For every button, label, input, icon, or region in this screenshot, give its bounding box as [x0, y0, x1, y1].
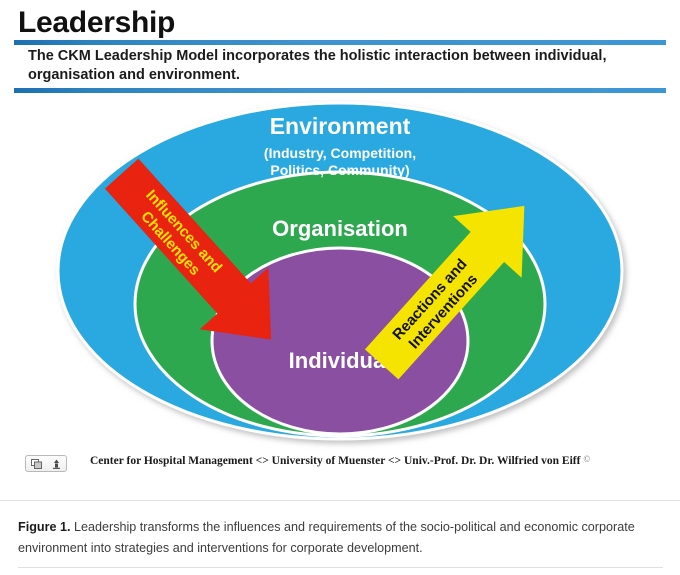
figure-caption: Figure 1. Leadership transforms the infl…: [18, 517, 663, 559]
organisation-label: Organisation: [272, 216, 408, 241]
slide-mini-toolbar[interactable]: [25, 455, 67, 472]
sort-ascending-icon[interactable]: [52, 459, 61, 469]
footer-credit-text: Center for Hospital Management <> Univer…: [90, 455, 580, 467]
environment-sublabel-line1: (Industry, Competition,: [264, 145, 416, 161]
environment-label: Environment: [270, 113, 411, 139]
figure-caption-block: Figure 1. Leadership transforms the infl…: [0, 500, 680, 575]
slide-container: Leadership The CKM Leadership Model inco…: [0, 0, 680, 500]
title-divider-bottom: [14, 88, 666, 93]
environment-sublabel-line2: Politics, Community): [270, 162, 409, 178]
title-divider-top: [14, 40, 666, 45]
footer-credit: Center for Hospital Management <> Univer…: [90, 454, 590, 467]
figure-caption-label: Figure 1.: [18, 520, 70, 534]
figure-caption-text: Leadership transforms the influences and…: [18, 520, 635, 555]
page-title: Leadership: [18, 6, 175, 40]
slide-subtitle: The CKM Leadership Model incorporates th…: [28, 47, 648, 85]
slide-footer: Center for Hospital Management <> Univer…: [0, 452, 680, 478]
caption-divider: [18, 567, 663, 568]
copyright-mark: ©: [583, 454, 590, 464]
picture-icon[interactable]: [31, 459, 42, 469]
leadership-model-diagram: Environment (Industry, Competition, Poli…: [0, 96, 680, 456]
